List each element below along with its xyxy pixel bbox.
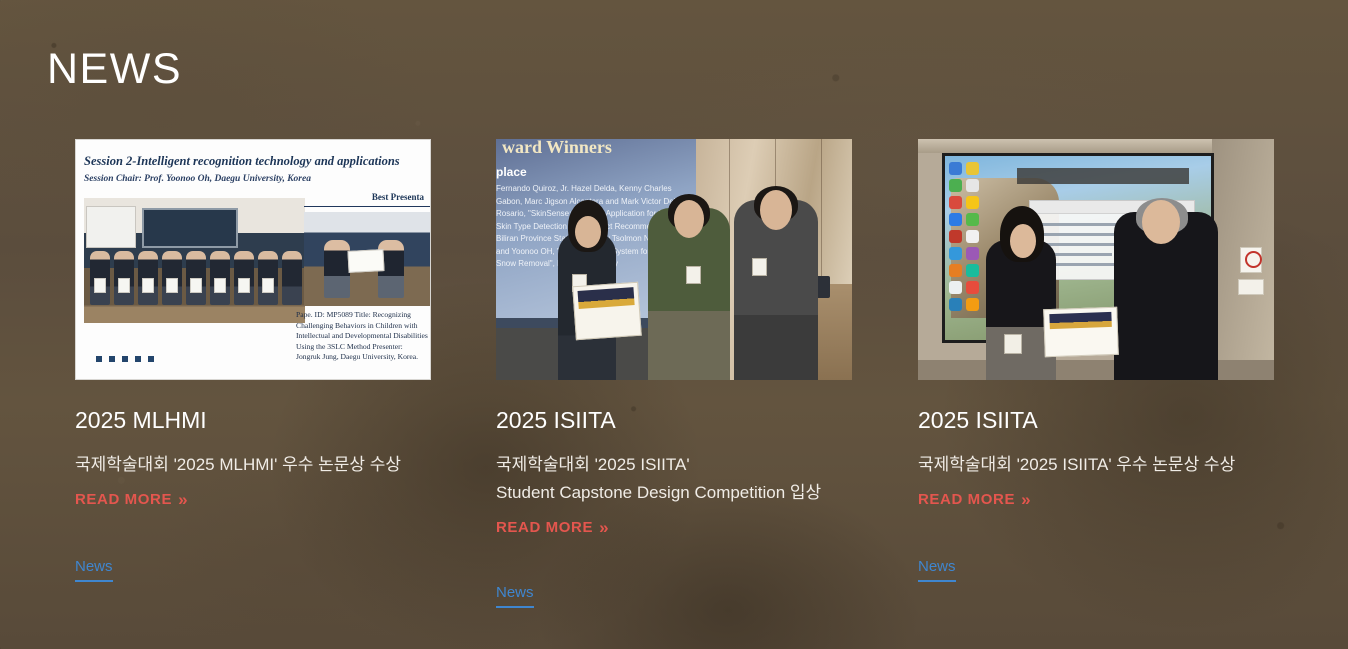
name-badge-shape	[686, 266, 701, 284]
category-tag-news[interactable]: News	[75, 557, 113, 582]
certificate-shape	[118, 278, 130, 293]
desktop-icon	[966, 281, 979, 294]
desktop-icon	[966, 196, 979, 209]
read-more-link[interactable]: READ MORE »	[75, 491, 186, 508]
certificate-shape	[190, 278, 202, 293]
table-shape	[84, 307, 305, 323]
divider-line	[304, 206, 430, 207]
person-figure	[282, 251, 302, 305]
name-badge-shape	[1004, 334, 1022, 354]
double-chevron-right-icon: »	[1021, 491, 1028, 508]
certificate-shape	[94, 278, 106, 293]
slide-bullet-dots	[96, 356, 154, 362]
desktop-icon	[949, 230, 962, 243]
news-card-tag-wrap: News	[918, 557, 1274, 582]
certificate-shape	[142, 278, 154, 293]
desktop-icon	[966, 247, 979, 260]
news-card-title[interactable]: 2025 ISIITA	[918, 405, 1274, 435]
slide-group-photo	[84, 198, 305, 323]
projected-title-text: ward Winners	[502, 139, 612, 158]
desktop-icon	[949, 247, 962, 260]
read-more-label: READ MORE	[918, 491, 1015, 508]
news-card[interactable]: Session 2-Intelligent recognition techno…	[75, 139, 431, 582]
desktop-icon	[949, 281, 962, 294]
best-presentation-label: Best Presenta	[372, 192, 424, 202]
floor-shape	[918, 360, 1274, 380]
face-shape	[1142, 200, 1180, 244]
bullet-dot	[109, 356, 115, 362]
face-shape	[1010, 224, 1036, 258]
double-chevron-right-icon: »	[178, 491, 185, 508]
news-card-thumbnail-link[interactable]: ward Winners place Fernando Quiroz, Jr. …	[496, 139, 852, 380]
conference-slide-image: Session 2-Intelligent recognition techno…	[75, 139, 431, 380]
news-card-description: 국제학술대회 '2025 MLHMI' 우수 논문상 수상	[75, 451, 431, 479]
news-card-tag-wrap: News	[75, 557, 431, 582]
desktop-icon	[966, 264, 979, 277]
certificate-shape	[166, 278, 178, 293]
read-more-link[interactable]: READ MORE »	[918, 491, 1029, 508]
face-shape	[575, 216, 601, 248]
certificate-award-photo	[918, 139, 1274, 380]
slide-subheading-text: Session Chair: Prof. Yoonoo Oh, Daegu Un…	[84, 174, 311, 184]
read-more-link[interactable]: READ MORE »	[496, 519, 607, 536]
award-photo-shape	[304, 212, 430, 306]
double-chevron-right-icon: »	[599, 519, 606, 536]
projection-screen-shape	[86, 206, 136, 248]
desktop-icon	[949, 264, 962, 277]
desktop-icon	[966, 298, 979, 311]
desktop-icon	[966, 230, 979, 243]
news-card-tag-wrap: News	[496, 583, 852, 608]
blackboard-shape	[142, 208, 238, 248]
certificate-shape	[262, 278, 274, 293]
category-tag-news[interactable]: News	[918, 557, 956, 582]
desktop-icon	[966, 162, 979, 175]
desktop-icon	[949, 213, 962, 226]
slide-heading-text: Session 2-Intelligent recognition techno…	[84, 154, 400, 169]
page-title: NEWS	[47, 44, 182, 94]
news-card-thumbnail-link[interactable]	[918, 139, 1274, 380]
award-ceremony-photo: ward Winners place Fernando Quiroz, Jr. …	[496, 139, 852, 380]
face-shape	[674, 200, 704, 238]
desktop-icons-group	[949, 162, 983, 342]
category-tag-news[interactable]: News	[496, 583, 534, 608]
news-card[interactable]: 2025 ISIITA 국제학술대회 '2025 ISIITA' 우수 논문상 …	[918, 139, 1274, 582]
read-more-label: READ MORE	[75, 491, 172, 508]
news-card-description: 국제학술대회 '2025 ISIITA' 우수 논문상 수상	[918, 451, 1274, 479]
news-card-description-line2: Student Capstone Design Competition 입상	[496, 479, 852, 507]
certificate-shape	[1043, 307, 1119, 358]
news-section: NEWS Session 2-Intelligent recognition t…	[0, 0, 1348, 649]
bullet-dot	[122, 356, 128, 362]
desktop-icon	[949, 179, 962, 192]
desktop-icon	[949, 196, 962, 209]
news-card-thumbnail-link[interactable]: Session 2-Intelligent recognition techno…	[75, 139, 431, 380]
certificate-shape	[572, 282, 642, 340]
certificate-shape	[238, 278, 250, 293]
news-card-description: 국제학술대회 '2025 ISIITA'	[496, 451, 852, 479]
desktop-icon	[966, 179, 979, 192]
bullet-dot	[96, 356, 102, 362]
no-entry-sign-icon	[1240, 247, 1262, 273]
name-badge-shape	[752, 258, 767, 276]
desktop-icon	[949, 162, 962, 175]
certificate-shape	[214, 278, 226, 293]
news-card-title[interactable]: 2025 MLHMI	[75, 405, 431, 435]
face-shape	[760, 190, 792, 230]
desktop-icon	[966, 213, 979, 226]
desktop-toolbar-shape	[1017, 168, 1189, 184]
slide-caption-text: Pape. ID: MP5089 Title: Recognizing Chal…	[296, 310, 428, 363]
desktop-icon	[949, 298, 962, 311]
person-figure	[324, 240, 350, 298]
news-card-title[interactable]: 2025 ISIITA	[496, 405, 852, 435]
news-card[interactable]: ward Winners place Fernando Quiroz, Jr. …	[496, 139, 852, 608]
wall-notice-shape	[1238, 279, 1264, 295]
bullet-dot	[148, 356, 154, 362]
bullet-dot	[135, 356, 141, 362]
read-more-label: READ MORE	[496, 519, 593, 536]
projected-subtitle-text: place	[496, 165, 527, 179]
certificate-shape	[347, 249, 384, 273]
